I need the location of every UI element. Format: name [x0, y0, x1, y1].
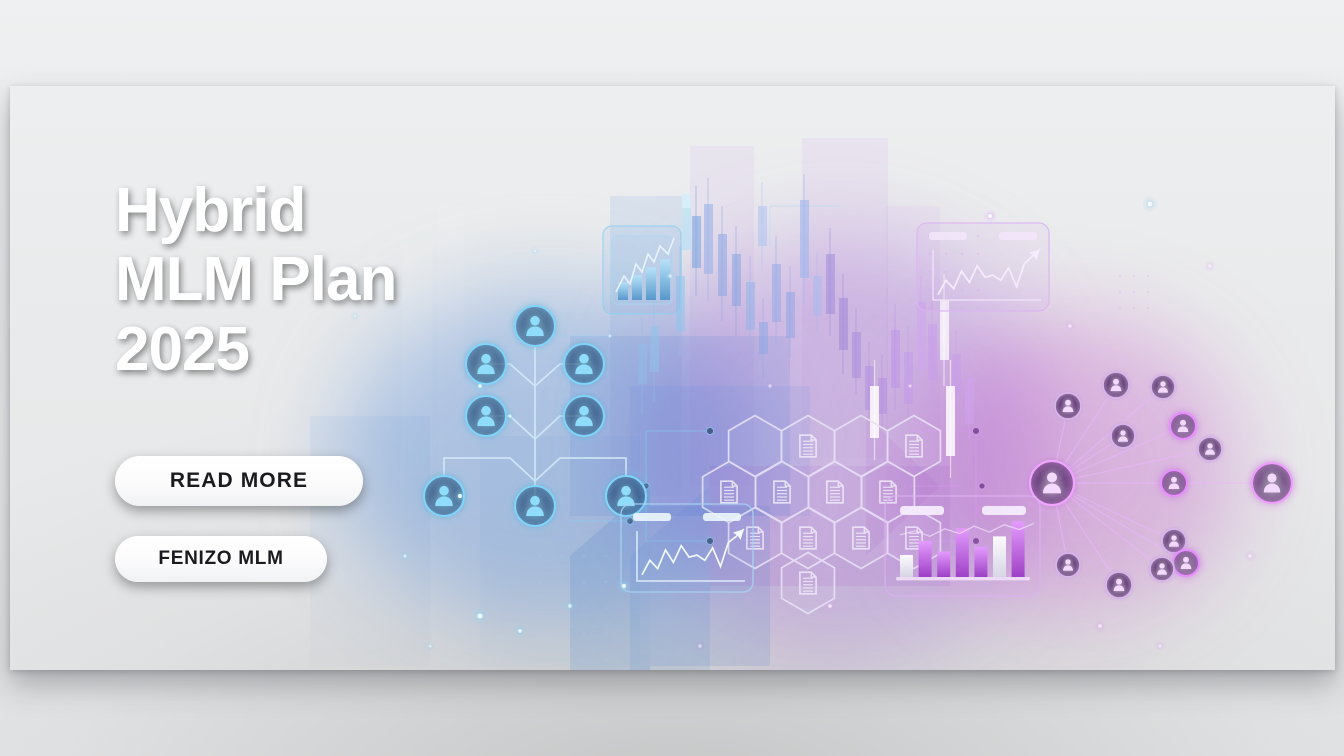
page-title: Hybrid MLM Plan 2025	[115, 176, 396, 384]
read-more-button[interactable]: READ MORE	[115, 456, 363, 506]
brand-button[interactable]: FENIZO MLM	[115, 536, 327, 582]
promo-banner: Hybrid MLM Plan 2025 READ MORE FENIZO ML…	[10, 86, 1335, 670]
